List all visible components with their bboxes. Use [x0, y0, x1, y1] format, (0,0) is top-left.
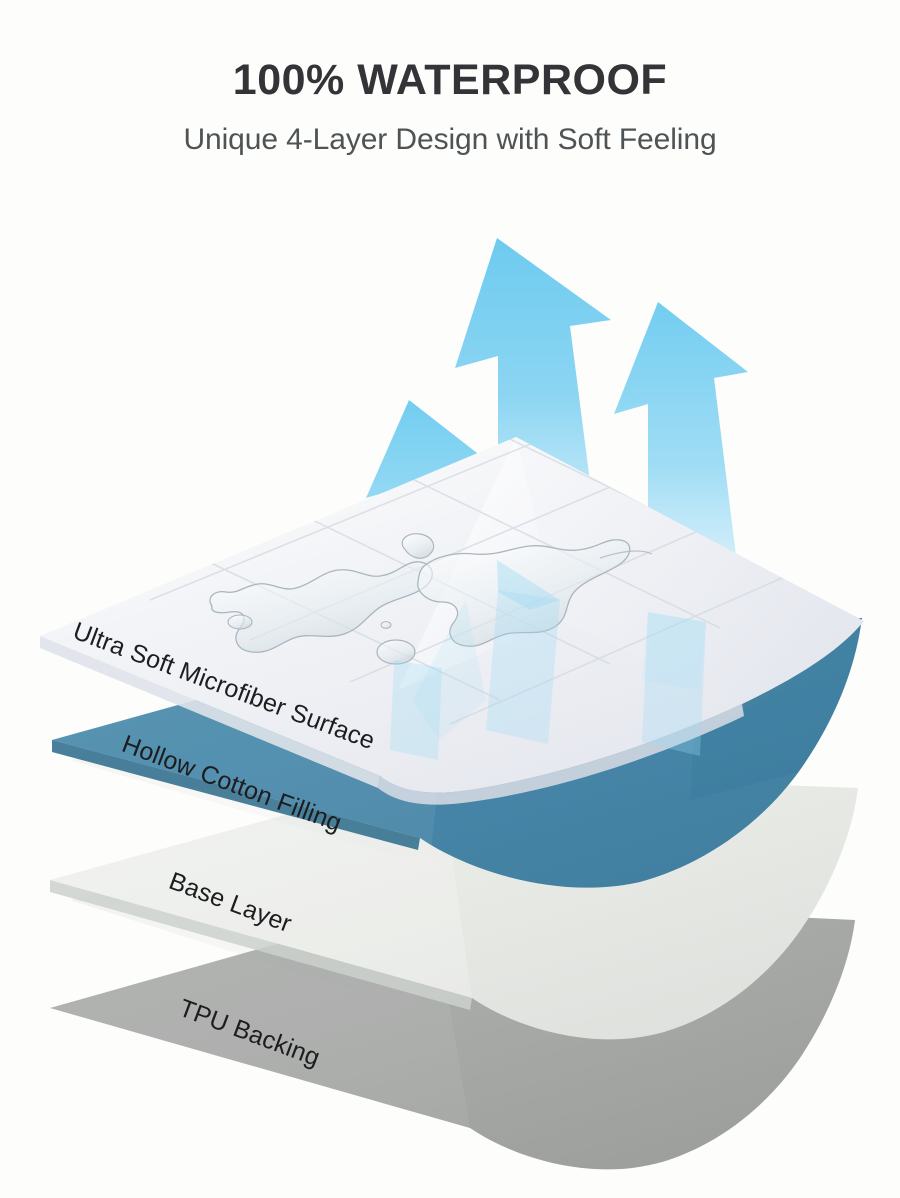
exploded-layers-illustration	[0, 0, 900, 1198]
layer-diagram-stage: Ultra Soft Microfiber Surface Hollow Cot…	[0, 0, 900, 1198]
header: 100% WATERPROOF Unique 4-Layer Design wi…	[0, 0, 900, 156]
page-subtitle: Unique 4-Layer Design with Soft Feeling	[0, 123, 900, 156]
page-title: 100% WATERPROOF	[0, 58, 900, 103]
